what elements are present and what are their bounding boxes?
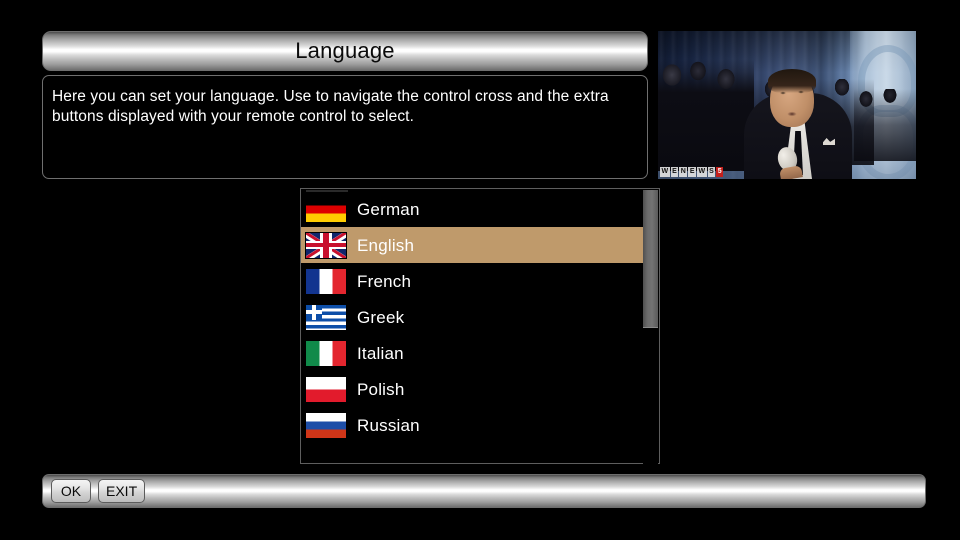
bug-accent: 5 xyxy=(716,167,723,177)
bug-letter-2: E xyxy=(671,167,679,177)
list-scrollbar-thumb[interactable] xyxy=(643,190,658,328)
tv-osd-screen: Language Here you can set your language.… xyxy=(0,0,960,540)
video-reporter-hair xyxy=(768,69,816,93)
bug-letter-5: W xyxy=(697,167,707,177)
list-item-italian[interactable]: Italian xyxy=(301,335,643,371)
list-item-english[interactable]: English xyxy=(301,227,643,263)
list-item-french[interactable]: French xyxy=(301,263,643,299)
video-right-crowd xyxy=(854,89,916,161)
gr-flag-icon xyxy=(305,304,347,331)
description-panel: Here you can set your language. Use to n… xyxy=(42,75,648,179)
list-item-german[interactable]: German xyxy=(301,191,643,227)
video-left-crowd xyxy=(658,59,754,171)
it-flag-icon xyxy=(305,340,347,367)
de-flag-icon xyxy=(305,196,347,223)
bug-letter-3: N xyxy=(679,167,687,177)
footer-action-bar: OK EXIT xyxy=(42,474,926,508)
list-scrollbar-track[interactable] xyxy=(643,190,658,464)
bug-letter-4: E xyxy=(688,167,696,177)
language-list: German English French Greek xyxy=(301,191,643,443)
list-item-label: English xyxy=(357,237,414,254)
list-item-polish[interactable]: Polish xyxy=(301,371,643,407)
list-item-label: Russian xyxy=(357,417,420,434)
list-item-russian[interactable]: Russian xyxy=(301,407,643,443)
bug-letter-1: W xyxy=(660,167,670,177)
list-item-label: French xyxy=(357,273,411,290)
ok-button[interactable]: OK xyxy=(51,479,91,503)
gb-flag-icon xyxy=(305,232,347,259)
page-title: Language xyxy=(295,40,394,62)
page-title-bar: Language xyxy=(42,31,648,71)
list-item-greek[interactable]: Greek xyxy=(301,299,643,335)
list-item-label: Greek xyxy=(357,309,404,326)
list-item-label: Polish xyxy=(357,381,405,398)
fr-flag-icon xyxy=(305,268,347,295)
description-text: Here you can set your language. Use to n… xyxy=(52,87,637,128)
video-preview[interactable]: W E N E W S 5 xyxy=(658,31,916,179)
channel-logo-bug: W E N E W S 5 xyxy=(660,166,723,177)
language-list-panel: German English French Greek xyxy=(300,188,660,464)
exit-button[interactable]: EXIT xyxy=(98,479,145,503)
bug-letter-6: S xyxy=(708,167,716,177)
pl-flag-icon xyxy=(305,376,347,403)
list-item-label: Italian xyxy=(357,345,404,362)
ru-flag-icon xyxy=(305,412,347,439)
list-item-label: German xyxy=(357,201,420,218)
